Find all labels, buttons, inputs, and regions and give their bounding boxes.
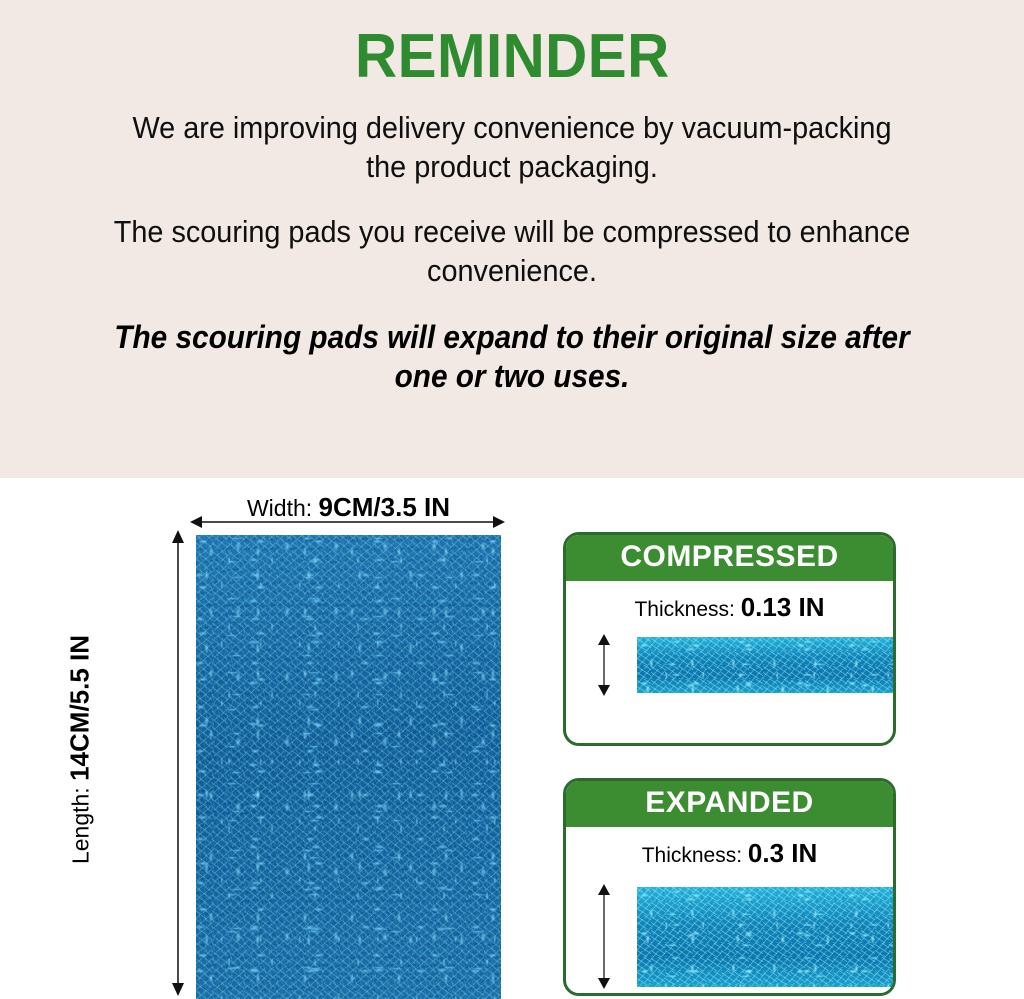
spec-card-expanded-header: EXPANDED: [566, 781, 893, 827]
reminder-paragraph-two: The scouring pads you receive will be co…: [112, 212, 912, 290]
expanded-thickness-value: 0.3 IN: [748, 838, 817, 868]
reminder-paragraph-one: We are improving delivery convenience by…: [112, 108, 912, 186]
compressed-thickness-key: Thickness:: [634, 598, 734, 621]
reminder-panel: REMINDER We are improving delivery conve…: [0, 0, 1024, 478]
spec-card-compressed-body: Thickness: 0.13 IN: [566, 581, 893, 747]
product-panel: Width: 9CM/3.5 IN Length: 14CM/5.5 IN CO…: [0, 478, 1024, 999]
compressed-pad-image: [637, 637, 896, 693]
reminder-paragraph-emphasis: The scouring pads will expand to their o…: [103, 318, 921, 396]
expanded-thickness-key: Thickness:: [642, 844, 742, 867]
product-infographic: REMINDER We are improving delivery conve…: [0, 0, 1024, 999]
expanded-thickness-arrow-icon: [596, 884, 612, 989]
expanded-thickness-label: Thickness: 0.3 IN: [566, 827, 893, 869]
spec-card-compressed-header: COMPRESSED: [566, 535, 893, 581]
length-dimension-value: 14CM/5.5 IN: [65, 635, 95, 781]
expanded-pad-image: [637, 887, 896, 987]
main-scouring-pad-image: [196, 535, 501, 999]
width-dimension-arrow-icon: [190, 514, 505, 530]
page-title: REMINDER: [355, 24, 670, 89]
compressed-thickness-arrow-icon: [596, 634, 612, 696]
length-dimension-arrow-icon: [170, 530, 186, 996]
spec-card-compressed: COMPRESSED Thickness: 0.13 IN: [563, 532, 896, 746]
spec-card-expanded-body: Thickness: 0.3 IN: [566, 827, 893, 997]
compressed-thickness-value: 0.13 IN: [741, 592, 825, 622]
spec-card-expanded: EXPANDED Thickness: 0.3 IN: [563, 778, 896, 996]
length-dimension-label: Length: 14CM/5.5 IN: [65, 600, 96, 900]
length-dimension-key: Length:: [68, 787, 94, 864]
compressed-thickness-label: Thickness: 0.13 IN: [566, 581, 893, 623]
